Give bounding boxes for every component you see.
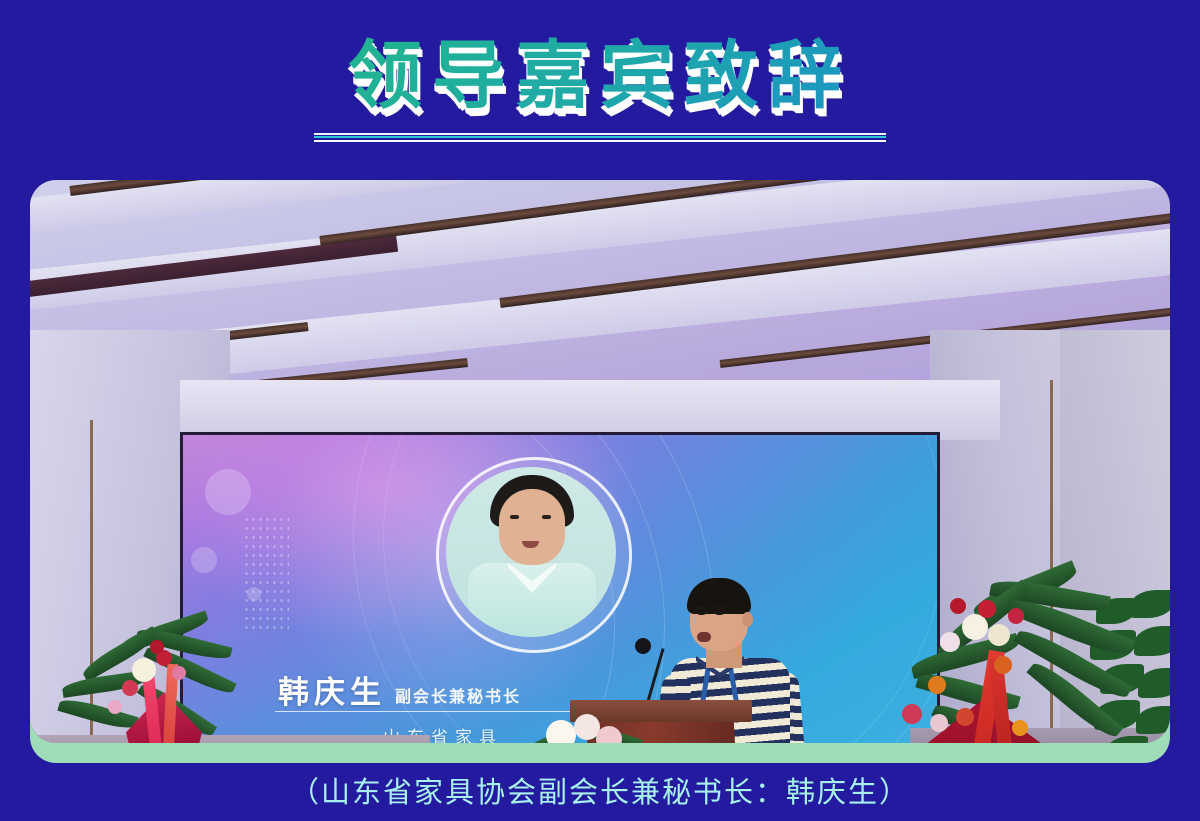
flower bbox=[172, 666, 186, 680]
flower bbox=[928, 676, 946, 694]
page-title: 领导嘉宾致辞 领导嘉宾致辞 bbox=[0, 32, 1200, 120]
speaker-mouth bbox=[697, 632, 711, 642]
portrait-face bbox=[499, 489, 565, 565]
screen-speaker-name: 韩庆生 bbox=[278, 667, 386, 712]
flower bbox=[962, 614, 988, 640]
screen-speaker-role: 副会长兼秘书长 bbox=[395, 683, 521, 707]
photo-caption: （山东省家具协会副会长兼秘书长：韩庆生） bbox=[0, 769, 1200, 811]
flower bbox=[1012, 720, 1028, 736]
page-title-text: 领导嘉宾致辞 bbox=[0, 32, 1200, 120]
flower bbox=[950, 598, 966, 614]
flower bbox=[122, 680, 138, 696]
speaker-ear bbox=[742, 612, 753, 627]
portrait-eye bbox=[510, 515, 519, 519]
screen-bubble bbox=[247, 587, 261, 601]
speaker-eyebrow bbox=[714, 606, 725, 609]
flower bbox=[132, 658, 156, 682]
stage-photo: 韩庆生 副会长兼秘书长 山东省家具 Shandong Furniture bbox=[30, 180, 1170, 743]
screen-bubble bbox=[205, 469, 251, 515]
screen-dot-pattern bbox=[243, 515, 289, 635]
flower bbox=[108, 700, 122, 714]
screen-bubble bbox=[191, 547, 217, 573]
speaker-eye bbox=[716, 612, 723, 615]
wall-upper-band bbox=[180, 380, 1000, 440]
microphone-head bbox=[635, 638, 651, 654]
divider-line-3 bbox=[314, 140, 886, 142]
speaker-eyebrow bbox=[696, 606, 707, 609]
podium-bouquet bbox=[528, 710, 648, 743]
flower bbox=[150, 640, 164, 654]
flower bbox=[902, 704, 922, 724]
header-section: 领导嘉宾致辞 领导嘉宾致辞 bbox=[0, 0, 1200, 170]
photo-frame: 韩庆生 副会长兼秘书长 山东省家具 Shandong Furniture bbox=[30, 180, 1170, 763]
palm-leaf bbox=[57, 695, 138, 732]
led-screen: 韩庆生 副会长兼秘书长 山东省家具 Shandong Furniture bbox=[180, 432, 940, 743]
title-divider bbox=[314, 133, 886, 142]
portrait-shirt bbox=[468, 563, 596, 637]
poster-page: 领导嘉宾致辞 领导嘉宾致辞 bbox=[0, 0, 1200, 821]
flower bbox=[940, 632, 960, 652]
flower bbox=[596, 726, 622, 743]
divider-line-1 bbox=[314, 133, 886, 135]
speaker-portrait bbox=[446, 467, 616, 637]
flower bbox=[546, 720, 576, 743]
flower bbox=[988, 624, 1010, 646]
divider-line-2 bbox=[314, 136, 886, 138]
flower bbox=[956, 708, 974, 726]
speaker-eye bbox=[698, 612, 705, 615]
flower bbox=[994, 656, 1012, 674]
flower bbox=[1008, 608, 1024, 624]
plant-leaf bbox=[1136, 706, 1170, 734]
flower bbox=[978, 600, 996, 618]
portrait-eye bbox=[542, 515, 551, 519]
flower bbox=[930, 714, 948, 732]
